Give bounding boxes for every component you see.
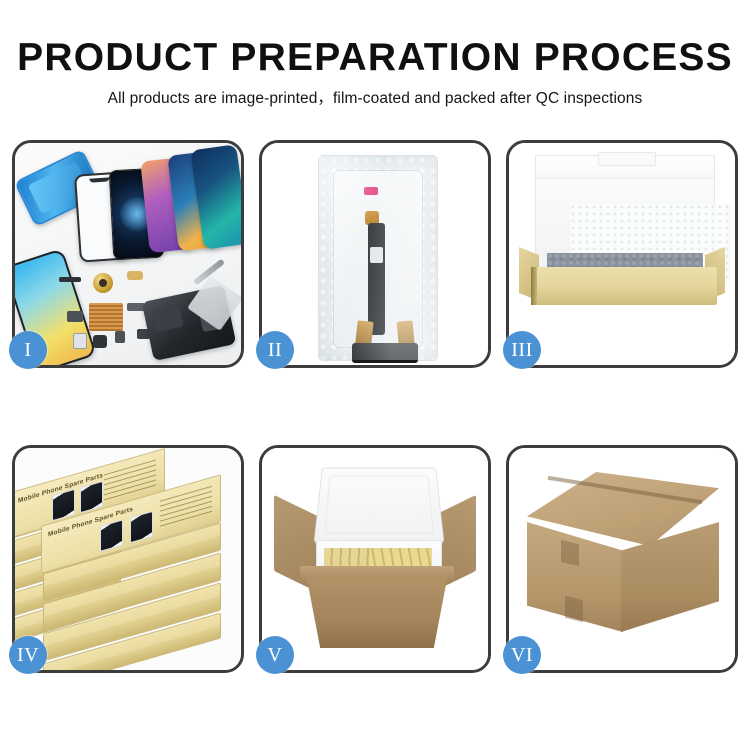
step-5-image	[262, 448, 488, 670]
component-speaker	[93, 335, 107, 348]
carton-body	[306, 574, 448, 648]
box-artwork-phone-3	[100, 519, 123, 552]
process-step-3: III	[506, 140, 738, 368]
bubble-wrap-sheen	[319, 156, 437, 360]
step-badge-6: VI	[503, 636, 541, 674]
box-spec-text-lines-front	[160, 486, 212, 529]
bubble-wrap-sleeve	[318, 155, 438, 361]
step-6-image	[509, 448, 735, 670]
step-badge-4: IV	[9, 636, 47, 674]
carton-tape-lower	[565, 596, 583, 622]
carton-tape-upper	[561, 540, 579, 566]
component-camera-module	[67, 311, 83, 322]
process-step-6: VI	[506, 445, 738, 673]
step-badge-5: V	[256, 636, 294, 674]
header: PRODUCT PREPARATION PROCESS All products…	[0, 0, 750, 107]
component-connector-strip	[59, 277, 81, 282]
step-1-image	[15, 143, 241, 365]
box-artwork-phone-4	[130, 511, 153, 544]
step-badge-1: I	[9, 331, 47, 369]
process-step-4: Mobile Phone Spare Parts Mobile Phone Sp…	[12, 445, 244, 673]
box-stack: Mobile Phone Spare Parts Mobile Phone Sp…	[15, 448, 241, 670]
step-3-image	[509, 143, 735, 365]
process-step-2: II	[259, 140, 491, 368]
component-gold-bracket	[127, 271, 143, 280]
page-root: PRODUCT PREPARATION PROCESS All products…	[0, 0, 750, 750]
step-2-image	[262, 143, 488, 365]
page-subtitle: All products are image-printed，film-coat…	[0, 77, 750, 107]
process-step-1: I	[12, 140, 244, 368]
component-vibrator	[115, 331, 125, 343]
styrofoam-lid	[314, 468, 445, 544]
component-sim-tray	[73, 333, 87, 349]
component-copper-mesh	[89, 303, 123, 331]
process-step-5: V	[259, 445, 491, 673]
lid-tab	[598, 152, 656, 166]
step-4-image: Mobile Phone Spare Parts Mobile Phone Sp…	[15, 448, 241, 670]
step-badge-3: III	[503, 331, 541, 369]
step-badge-2: II	[256, 331, 294, 369]
page-title: PRODUCT PREPARATION PROCESS	[0, 0, 750, 77]
component-gold-coil	[93, 273, 113, 293]
process-step-grid: I II	[12, 140, 738, 740]
gold-box-front-wall	[531, 267, 717, 305]
